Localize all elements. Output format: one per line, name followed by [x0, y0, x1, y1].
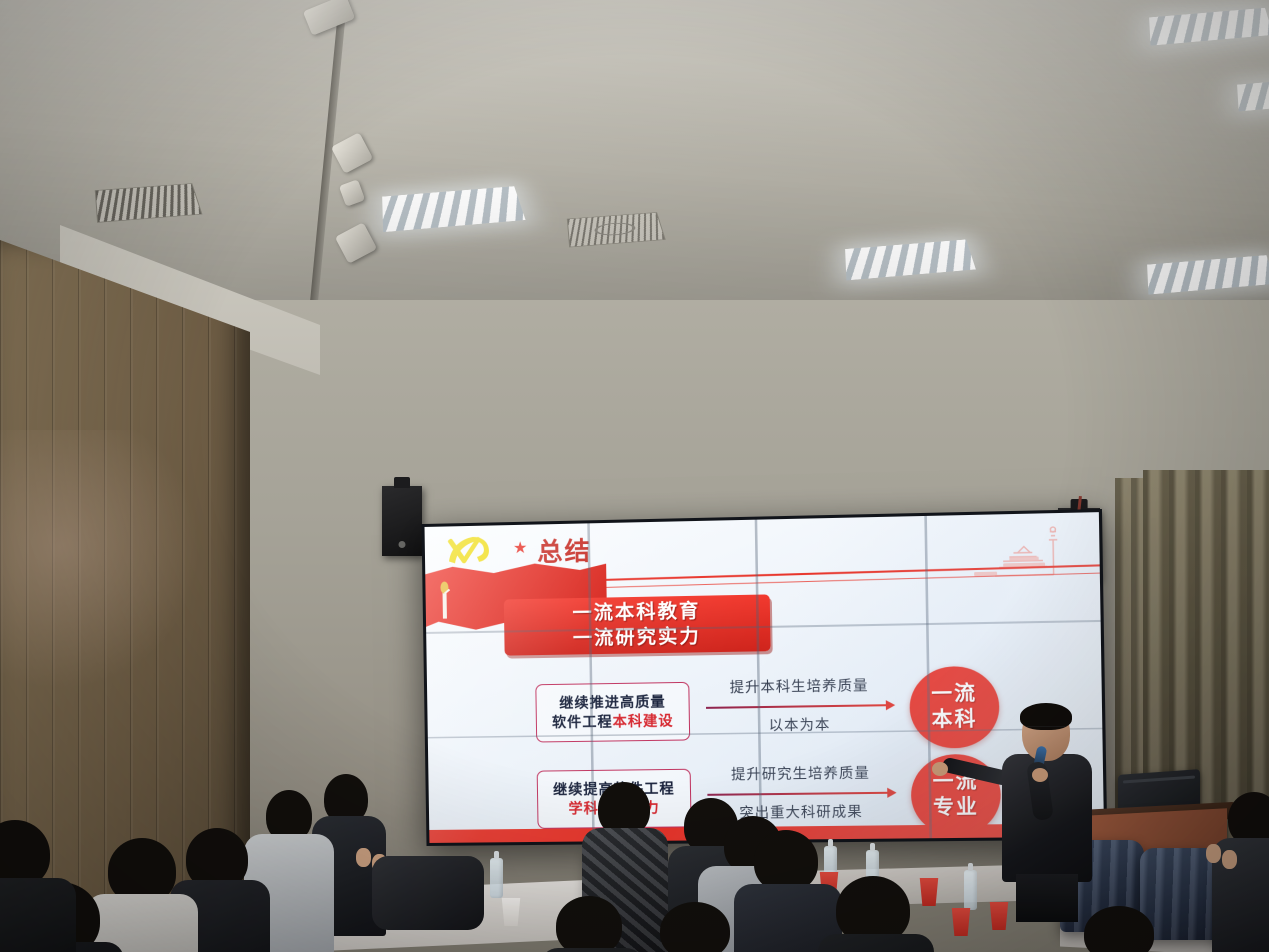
row1-box-line-2: 软件工程本科建设 [552, 711, 674, 732]
row2-circle-line-2: 专业 [933, 795, 979, 821]
water-bottle[interactable] [964, 870, 977, 910]
row1-label-box: 继续推进高质量 软件工程本科建设 [535, 682, 690, 743]
banner-line-1: 一流本科教育 [572, 599, 700, 627]
head [556, 896, 622, 952]
speaker-bracket [394, 477, 410, 488]
row1-box-line-1: 继续推进高质量 [559, 692, 666, 713]
row1-middle-top: 提升本科生培养质量 [701, 675, 897, 698]
row1-middle-bottom: 以本为本 [702, 713, 898, 736]
red-star-icon: ★ [513, 541, 528, 556]
water-bottle[interactable] [490, 858, 503, 898]
row1-circle-line-1: 一流 [931, 681, 977, 707]
presenter-left-hand [932, 762, 948, 776]
presenter-legs [1016, 874, 1078, 922]
monument-figure-icon [437, 580, 452, 620]
slide-title: 总结 [537, 531, 592, 568]
row2-middle-top: 提升研究生培养质量 [703, 762, 899, 785]
head [660, 902, 730, 952]
arrow-right-icon [707, 792, 888, 796]
banner-line-2: 一流研究实力 [573, 624, 701, 651]
loudspeaker-left [382, 486, 422, 556]
presenter-glasses [1026, 726, 1066, 735]
backpack-body [372, 856, 484, 930]
clapping-hand [1206, 844, 1221, 863]
row1-middle: 提升本科生培养质量 以本为本 [701, 677, 897, 743]
laptop-hinge [1123, 775, 1195, 783]
head [754, 830, 818, 892]
clapping-hand [1222, 850, 1237, 869]
row1-box-line2-prefix: 软件工程 [552, 713, 613, 730]
presenter-right-hand [1032, 768, 1048, 782]
row1-outcome-circle: 一流 本科 [909, 666, 1000, 749]
torso [818, 934, 934, 952]
arrow-right-icon [706, 704, 887, 709]
speaker-driver [399, 541, 406, 548]
torso [0, 878, 76, 952]
cpc-hammer-sickle-emblem-icon [443, 530, 496, 569]
torso [540, 948, 644, 952]
tiananmen-skyline-decoration-icon [963, 525, 1089, 581]
row1-circle-line-2: 本科 [932, 707, 978, 733]
clapping-hand [356, 848, 371, 867]
slide-banner: 一流本科教育 一流研究实力 [504, 594, 771, 655]
presenter [990, 706, 1100, 914]
conference-room-photo: ★ 总结 [0, 0, 1269, 952]
row1-box-line2-highlight: 本科建设 [613, 712, 674, 729]
